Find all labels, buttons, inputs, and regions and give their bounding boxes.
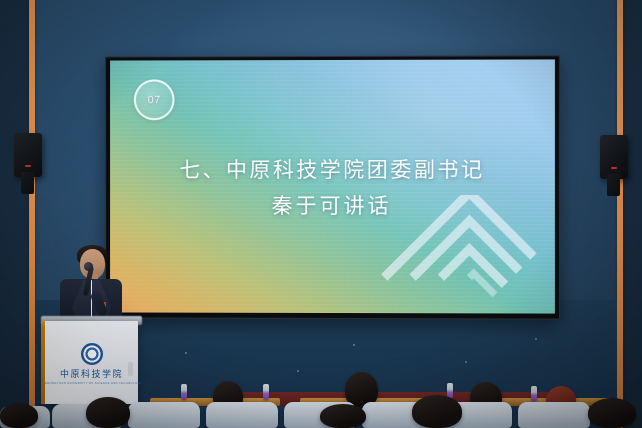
audience-head [86, 397, 130, 428]
podium: 中原科技学院 ZHONGYUAN UNIVERSITY OF SCIENCE A… [45, 321, 138, 404]
water-bottle [181, 384, 187, 400]
projection-screen: 07 七、中原科技学院团委副书记 秦于可讲话 [110, 59, 555, 313]
wall-left-dark-edge [0, 0, 31, 428]
projection-screen-frame: 07 七、中原科技学院团委副书记 秦于可讲话 [105, 55, 560, 319]
podium-institution-cn: 中原科技学院 [45, 367, 138, 380]
seat-back [128, 402, 200, 428]
speaking-person [58, 247, 124, 327]
microphone-head-icon [84, 262, 93, 271]
podium-institution-en: ZHONGYUAN UNIVERSITY OF SCIENCE AND TECH… [45, 382, 138, 385]
water-bottle [263, 384, 269, 400]
slide-page-badge-label: 07 [148, 94, 161, 106]
podium-logo: 中原科技学院 ZHONGYUAN UNIVERSITY OF SCIENCE A… [45, 343, 138, 385]
podium-left-edge [41, 321, 45, 404]
podium-side-tab [128, 362, 133, 376]
water-bottle [531, 386, 537, 402]
slide-title: 七、中原科技学院团委副书记 秦于可讲话 [110, 152, 555, 224]
slide-page-badge: 07 [134, 79, 175, 120]
lecture-hall-photo: 07 七、中原科技学院团委副书记 秦于可讲话 中原科技学院 ZHONGYUAN [0, 0, 642, 428]
slide-title-line-2: 秦于可讲话 [110, 188, 555, 224]
university-seal-icon [81, 343, 103, 365]
audience-head [588, 398, 636, 428]
wall-right-dark-edge [620, 0, 642, 428]
audience-head [0, 403, 38, 428]
audience-head [320, 404, 366, 428]
seat-back [518, 402, 590, 428]
wall-stripe-right [617, 0, 623, 428]
seat-back [206, 402, 278, 428]
slide-title-line-1: 七、中原科技学院团委副书记 [110, 152, 555, 188]
audience-head [412, 395, 462, 428]
